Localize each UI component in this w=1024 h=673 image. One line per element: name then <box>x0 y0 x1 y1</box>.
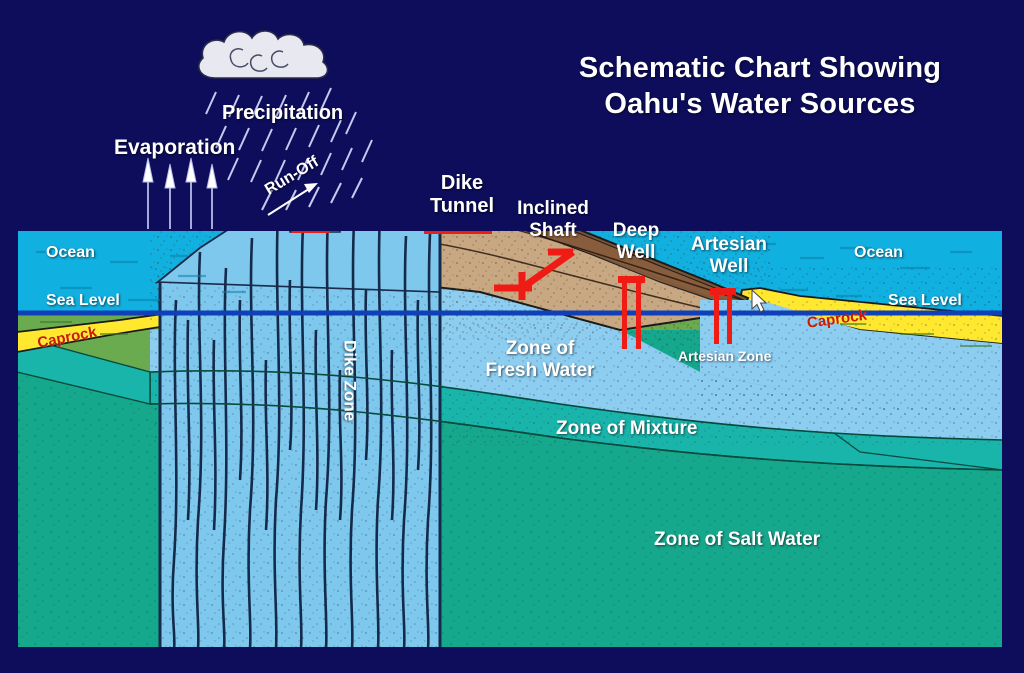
schematic-cross-section <box>0 0 1024 673</box>
diagram-canvas: Schematic Chart Showing Oahu's Water Sou… <box>0 0 1024 673</box>
cross-section-body <box>17 160 1010 650</box>
artesian-zone-texture <box>698 298 1004 416</box>
